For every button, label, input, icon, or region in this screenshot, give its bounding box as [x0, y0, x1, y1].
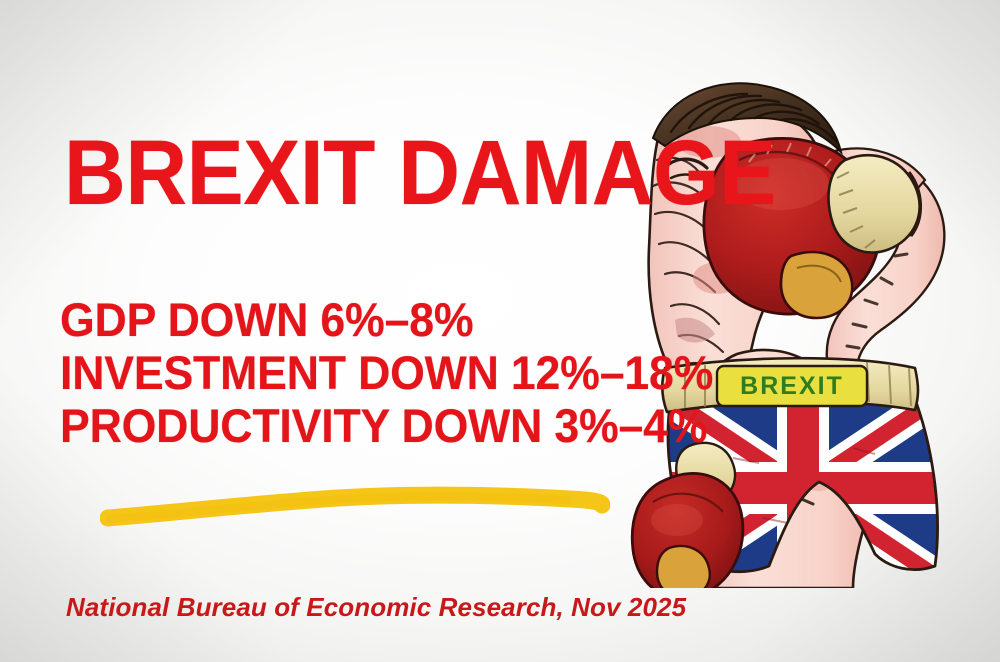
marker-underline — [100, 478, 610, 534]
hanging-glove — [632, 443, 743, 588]
brexit-damage-poster: BREXIT BREXIT DAMAGE GDP DOWN 6%–8% INVE… — [0, 0, 1000, 662]
marker-underline-icon — [100, 478, 610, 534]
stat-list: GDP DOWN 6%–8% INVESTMENT DOWN 12%–18% P… — [60, 294, 713, 453]
page-title: BREXIT DAMAGE — [64, 131, 776, 216]
shorts-brexit-label: BREXIT — [740, 372, 844, 400]
stat-line-gdp: GDP DOWN 6%–8% — [60, 294, 713, 347]
source-citation: National Bureau of Economic Research, No… — [66, 592, 686, 623]
stat-line-productivity: PRODUCTIVITY DOWN 3%–4% — [60, 400, 713, 453]
stat-line-investment: INVESTMENT DOWN 12%–18% — [60, 347, 713, 400]
